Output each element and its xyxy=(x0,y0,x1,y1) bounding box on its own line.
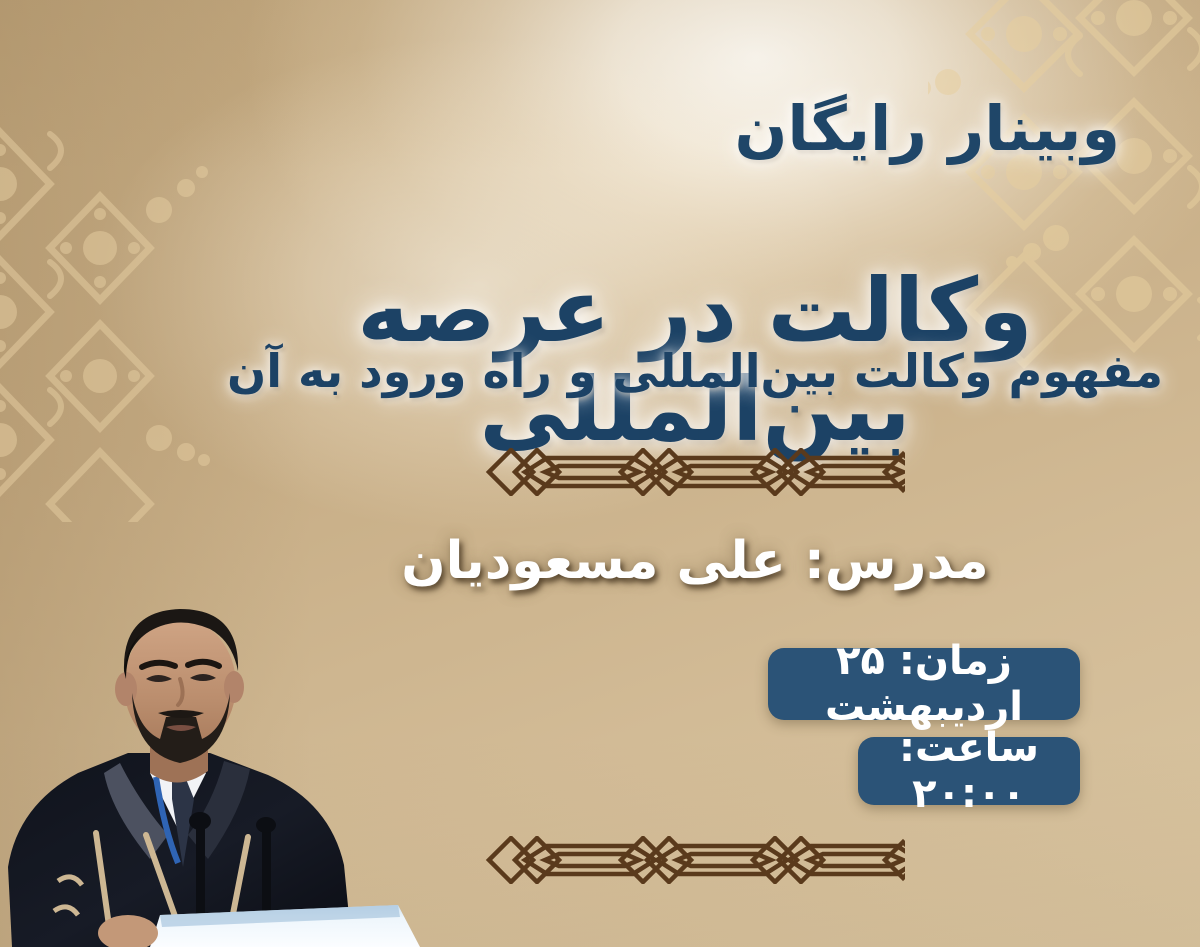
kicker-free-webinar: وبینار رایگان xyxy=(735,92,1120,165)
page-subtitle: مفهوم وکالت بین‌المللی و راه ورود به آن xyxy=(190,344,1200,398)
interlaced-chain-ornament-icon xyxy=(485,836,905,884)
instructor-name: مدرس: علی مسعودیان xyxy=(190,531,1200,591)
interlaced-chain-ornament-icon xyxy=(485,448,905,496)
status-badge-date: زمان: ۲۵ اردیبهشت xyxy=(768,648,1080,720)
poster-content: وبینار رایگان وکالت در عرصه بین‌المللی م… xyxy=(190,0,1200,947)
status-badge-time: ساعت: ۲۰:۰۰ xyxy=(858,737,1080,805)
webinar-poster: وبینار رایگان وکالت در عرصه بین‌المللی م… xyxy=(0,0,1200,947)
